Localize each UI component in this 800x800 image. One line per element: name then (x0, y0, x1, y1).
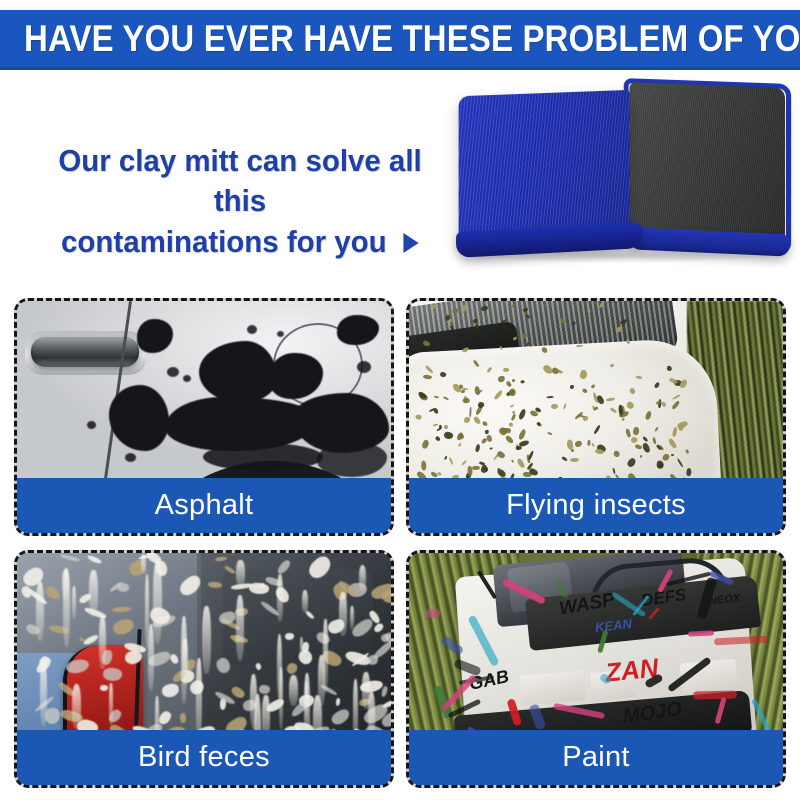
tar-speck (357, 361, 371, 373)
insect-speck (486, 434, 492, 441)
dropping-streak (40, 660, 47, 726)
dropping-streak (109, 683, 112, 725)
insect-speck (437, 472, 442, 476)
tar-speck (277, 331, 284, 337)
dropping-streak (305, 681, 308, 719)
dropping-streak (323, 619, 327, 693)
hero-section: Our clay mitt can solve all this contami… (0, 73, 800, 288)
hero-headline-line-1: Our clay mitt can solve all this (41, 141, 440, 222)
product-photo-clay-mitt (452, 81, 792, 281)
play-triangle-right-icon (404, 233, 419, 253)
mitt-clay-pad-surface (630, 82, 785, 248)
taillight-housing (520, 670, 586, 705)
dropping-streak (89, 570, 98, 616)
card-caption-asphalt: Asphalt (17, 478, 391, 533)
dropping-streak (362, 672, 370, 709)
infographic-page: HAVE YOU EVER HAVE THESE PROBLEM OF YOUR… (0, 0, 800, 800)
tar-splatter (203, 443, 323, 471)
card-caption-flying-insects: Flying insects (409, 478, 783, 533)
hero-headline-line-2-row: contaminations for you (41, 222, 440, 262)
card-paint[interactable]: WASPDEFSNEOXZANKEANMOJOGAB Paint (406, 550, 786, 788)
tar-speck (183, 375, 191, 382)
graffiti-stroke (426, 609, 441, 619)
insect-speck (415, 414, 421, 419)
dropping-streak (359, 565, 367, 591)
dropping-streak (99, 616, 105, 669)
tar-splatter (165, 397, 315, 451)
tar-speck (247, 325, 257, 334)
dropping-streak (350, 606, 353, 629)
tar-speck (87, 421, 96, 429)
tar-splatter (199, 341, 277, 403)
dropping-streak (145, 574, 149, 650)
tar-speck (125, 453, 136, 462)
dropping-streak (72, 684, 81, 729)
contamination-cards-grid: Asphalt Flying insects (14, 298, 786, 788)
dropping-streak (250, 674, 257, 729)
dropping-streak (36, 581, 45, 641)
clay-mitt-illustration (452, 81, 792, 271)
header-banner: HAVE YOU EVER HAVE THESE PROBLEM OF YOUR… (0, 10, 800, 70)
graffiti-stroke (693, 690, 737, 699)
card-caption-bird-feces: Bird feces (17, 730, 391, 785)
tar-splatter (137, 319, 173, 353)
dropping-streak (339, 592, 347, 635)
tar-splatter (317, 441, 387, 477)
dropping-streak (236, 595, 244, 661)
dropping-streak (153, 560, 162, 644)
insect-speck (501, 428, 511, 433)
dropping-streak (277, 574, 283, 621)
bird-dropping (285, 633, 294, 640)
dropping-streak (300, 637, 303, 659)
card-caption-paint: Paint (409, 730, 783, 785)
dropping-streak (289, 675, 298, 706)
card-bird-feces[interactable]: Bird feces (14, 550, 394, 788)
insect-speck (463, 397, 470, 402)
dropping-streak (72, 586, 76, 619)
insect-speck (421, 461, 427, 471)
insect-speck (489, 447, 492, 450)
card-flying-insects[interactable]: Flying insects (406, 298, 786, 536)
tar-splatter (109, 385, 169, 451)
dropping-streak (236, 560, 245, 587)
dropping-streak (148, 624, 154, 691)
tar-splatter (337, 315, 379, 345)
insect-speck (570, 385, 574, 389)
header-title: HAVE YOU EVER HAVE THESE PROBLEM OF YOUR… (24, 20, 800, 57)
hero-headline-line-2: contaminations for you (61, 222, 387, 262)
hero-headline: Our clay mitt can solve all this contami… (30, 141, 450, 262)
insect-speck (444, 425, 448, 429)
dropping-streak (182, 638, 188, 685)
dropping-streak (202, 606, 211, 674)
graffiti-tag: KEAN (594, 617, 632, 634)
dropping-streak (141, 554, 145, 574)
tar-speck (167, 367, 179, 377)
dropping-streak (62, 569, 70, 600)
card-asphalt[interactable]: Asphalt (14, 298, 394, 536)
